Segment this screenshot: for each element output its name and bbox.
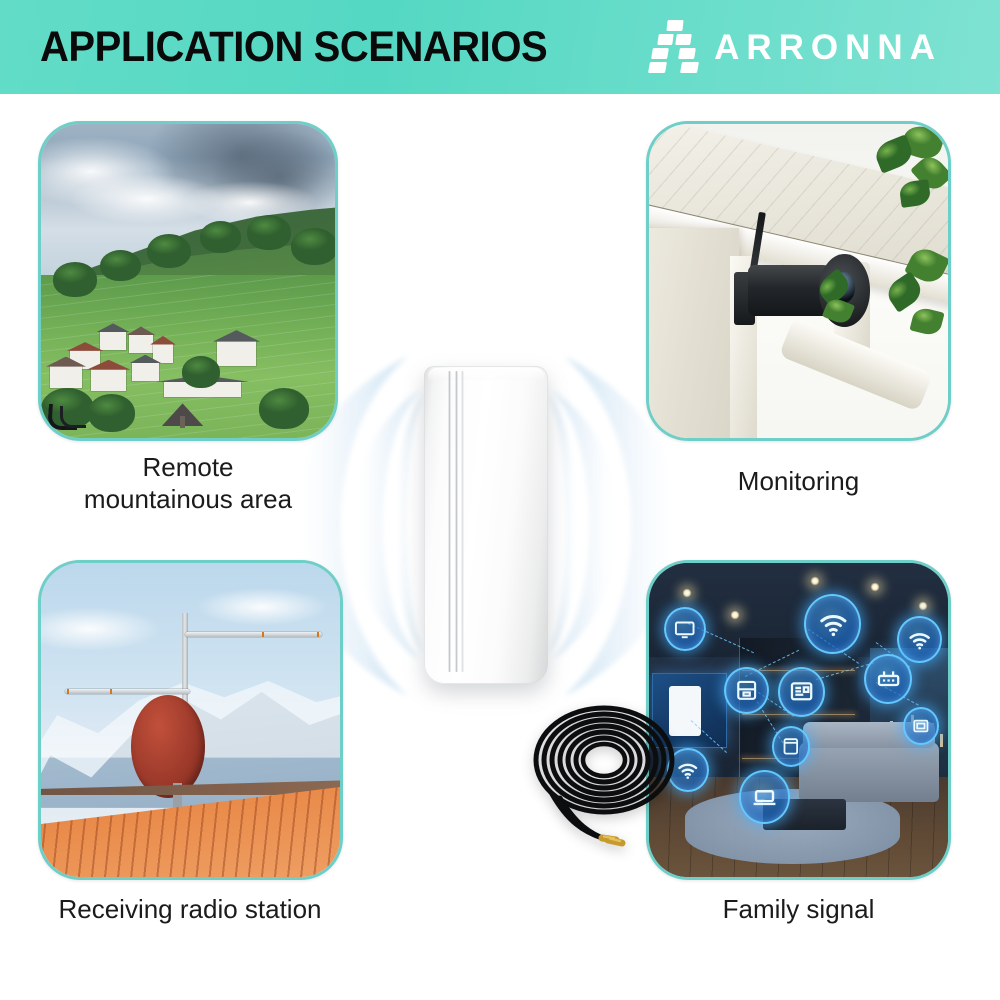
caption-monitoring: Monitoring	[646, 466, 951, 498]
router-node-icon	[864, 654, 912, 704]
page-header: APPLICATION SCENARIOS ARRONNA	[0, 0, 1000, 94]
product-antenna-device	[424, 366, 548, 684]
page-title: APPLICATION SCENARIOS	[40, 23, 547, 72]
laptop-node-icon	[739, 770, 790, 823]
antenna-pigtail-cable-2	[60, 406, 86, 428]
caption-remote-mountainous-area: Remote mountainous area	[38, 452, 338, 515]
monitor-node-icon	[664, 607, 706, 651]
caption-receiving-radio-station: Receiving radio station	[30, 894, 350, 926]
coax-cable-coil	[524, 698, 684, 848]
appliance-node-icon	[724, 667, 769, 714]
caption-family-signal: Family signal	[646, 894, 951, 926]
photo-receiving-radio-station	[41, 563, 340, 877]
scenario-card-receiving-radio-station[interactable]	[38, 560, 343, 880]
pyramid-blocks-logo-icon	[650, 18, 700, 76]
brand-lockup: ARRONNA	[650, 18, 942, 76]
tablet-node-icon	[772, 726, 811, 767]
scenario-stage: Remote mountainous area	[0, 94, 1000, 1000]
brand-name: ARRONNA	[714, 30, 942, 65]
photo-monitoring	[649, 124, 948, 438]
photo-remote-mountainous-area	[41, 124, 335, 438]
scenario-card-monitoring[interactable]	[646, 121, 951, 441]
wifi-node-icon	[804, 594, 861, 654]
photo-family-signal	[649, 563, 948, 877]
screen-node-icon	[903, 707, 939, 745]
scenario-card-family-signal[interactable]	[646, 560, 951, 880]
scenario-card-remote-mountainous-area[interactable]	[38, 121, 338, 441]
dashboard-node-icon	[778, 667, 826, 717]
